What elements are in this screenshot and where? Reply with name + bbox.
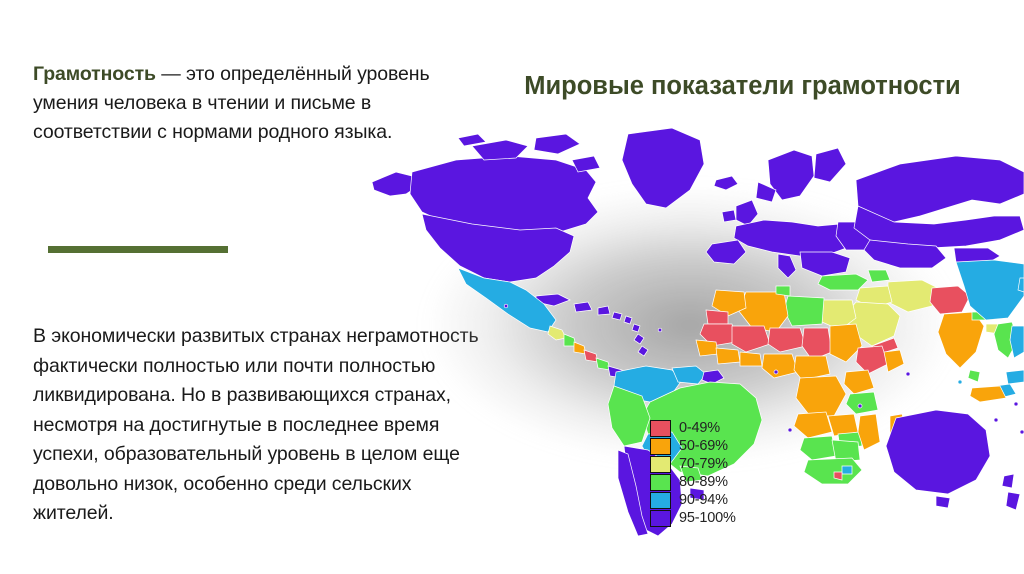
legend-label-70-79: 70-79% [679, 455, 728, 473]
legend-item: 50-69% [650, 437, 736, 455]
definition-lead-term: Грамотность [33, 63, 156, 85]
region-russia [854, 156, 1024, 268]
legend-swatch-50-69 [650, 438, 671, 455]
region-asia [938, 260, 1024, 400]
legend-label-95-100: 95-100% [679, 509, 736, 527]
legend-item: 80-89% [650, 473, 736, 491]
map-title: Мировые показатели грамотности [470, 72, 1015, 101]
legend-swatch-95-100 [650, 510, 671, 527]
legend-swatch-0-49 [650, 420, 671, 437]
legend-label-80-89: 80-89% [679, 473, 728, 491]
legend-label-50-69: 50-69% [679, 437, 728, 455]
legend-swatch-70-79 [650, 456, 671, 473]
legend-label-90-94: 90-94% [679, 491, 728, 509]
map-legend: 0-49% 50-69% 70-79% 80-89% 90-94% 95-100… [650, 419, 736, 527]
legend-item: 70-79% [650, 455, 736, 473]
legend-swatch-80-89 [650, 474, 671, 491]
section-divider [48, 246, 228, 253]
region-oceania [872, 368, 1024, 510]
legend-item: 0-49% [650, 419, 736, 437]
legend-item: 90-94% [650, 491, 736, 509]
region-central-america [548, 326, 624, 378]
slide-canvas: Грамотность — это определённый уровень у… [0, 0, 1024, 574]
legend-label-0-49: 0-49% [679, 419, 720, 437]
region-europe [706, 148, 880, 278]
legend-item: 95-100% [650, 509, 736, 527]
legend-swatch-90-94 [650, 492, 671, 509]
